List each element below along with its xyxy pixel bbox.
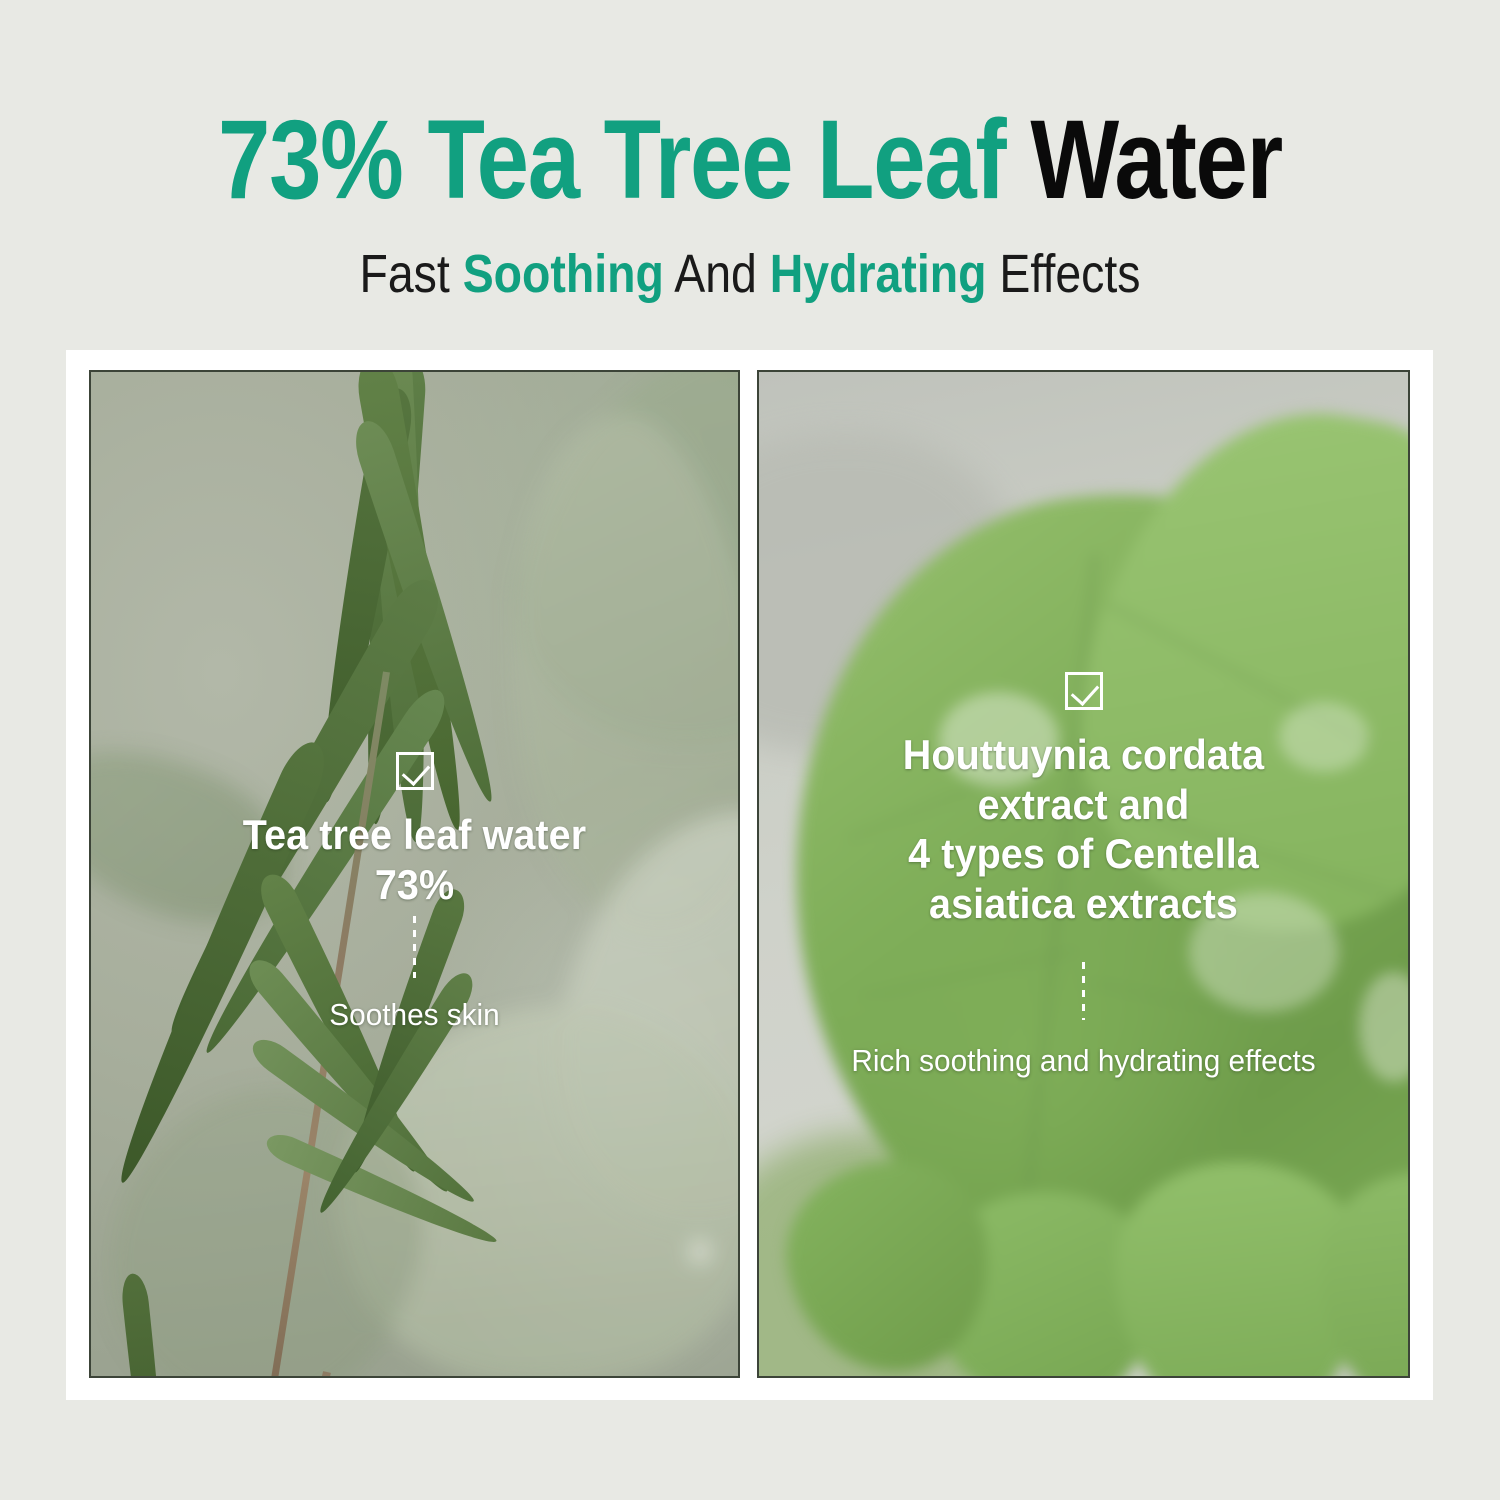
tea-tree-title-line-2: 73% xyxy=(110,860,718,910)
tea-tree-title-line-1: Tea tree leaf water xyxy=(110,810,718,860)
page-title: 73% Tea Tree Leaf Water xyxy=(120,104,1380,216)
subtitle-bold-hydrating: Hydrating xyxy=(770,244,987,304)
checkbox-checked-icon xyxy=(396,752,434,790)
title-black-text: Water xyxy=(1030,97,1282,222)
centella-title-line-3: 4 types of Centella xyxy=(778,829,1388,879)
centella-title-line-1: Houttuynia cordata xyxy=(778,730,1388,780)
centella-checkbox-row xyxy=(759,672,1408,715)
image-card-frame: Tea tree leaf water 73% Soothes skin xyxy=(66,350,1433,1400)
centella-dotted-divider xyxy=(1082,962,1085,1020)
panel-centella: Houttuynia cordata extract and 4 types o… xyxy=(757,370,1410,1378)
subtitle-part-3: Effects xyxy=(987,244,1141,304)
tea-tree-caption: Soothes skin xyxy=(104,996,725,1033)
header: 73% Tea Tree Leaf Water Fast Soothing An… xyxy=(0,0,1500,350)
tea-tree-dotted-divider xyxy=(413,916,416,978)
tea-tree-checkbox-row xyxy=(91,752,738,795)
centella-caption: Rich soothing and hydrating effects xyxy=(772,1042,1395,1079)
checkbox-checked-icon xyxy=(1065,672,1103,710)
page-subtitle: Fast Soothing And Hydrating Effects xyxy=(105,246,1395,303)
subtitle-part-1: Fast xyxy=(359,244,462,304)
subtitle-bold-soothing: Soothing xyxy=(463,244,664,304)
tea-tree-title: Tea tree leaf water 73% xyxy=(110,810,718,909)
centella-title-line-4: asiatica extracts xyxy=(778,879,1388,929)
subtitle-part-2: And xyxy=(664,244,770,304)
centella-title: Houttuynia cordata extract and 4 types o… xyxy=(778,730,1388,928)
centella-title-line-2: extract and xyxy=(778,780,1388,830)
panel-tea-tree: Tea tree leaf water 73% Soothes skin xyxy=(89,370,740,1378)
title-green-text: 73% Tea Tree Leaf xyxy=(218,97,1005,222)
